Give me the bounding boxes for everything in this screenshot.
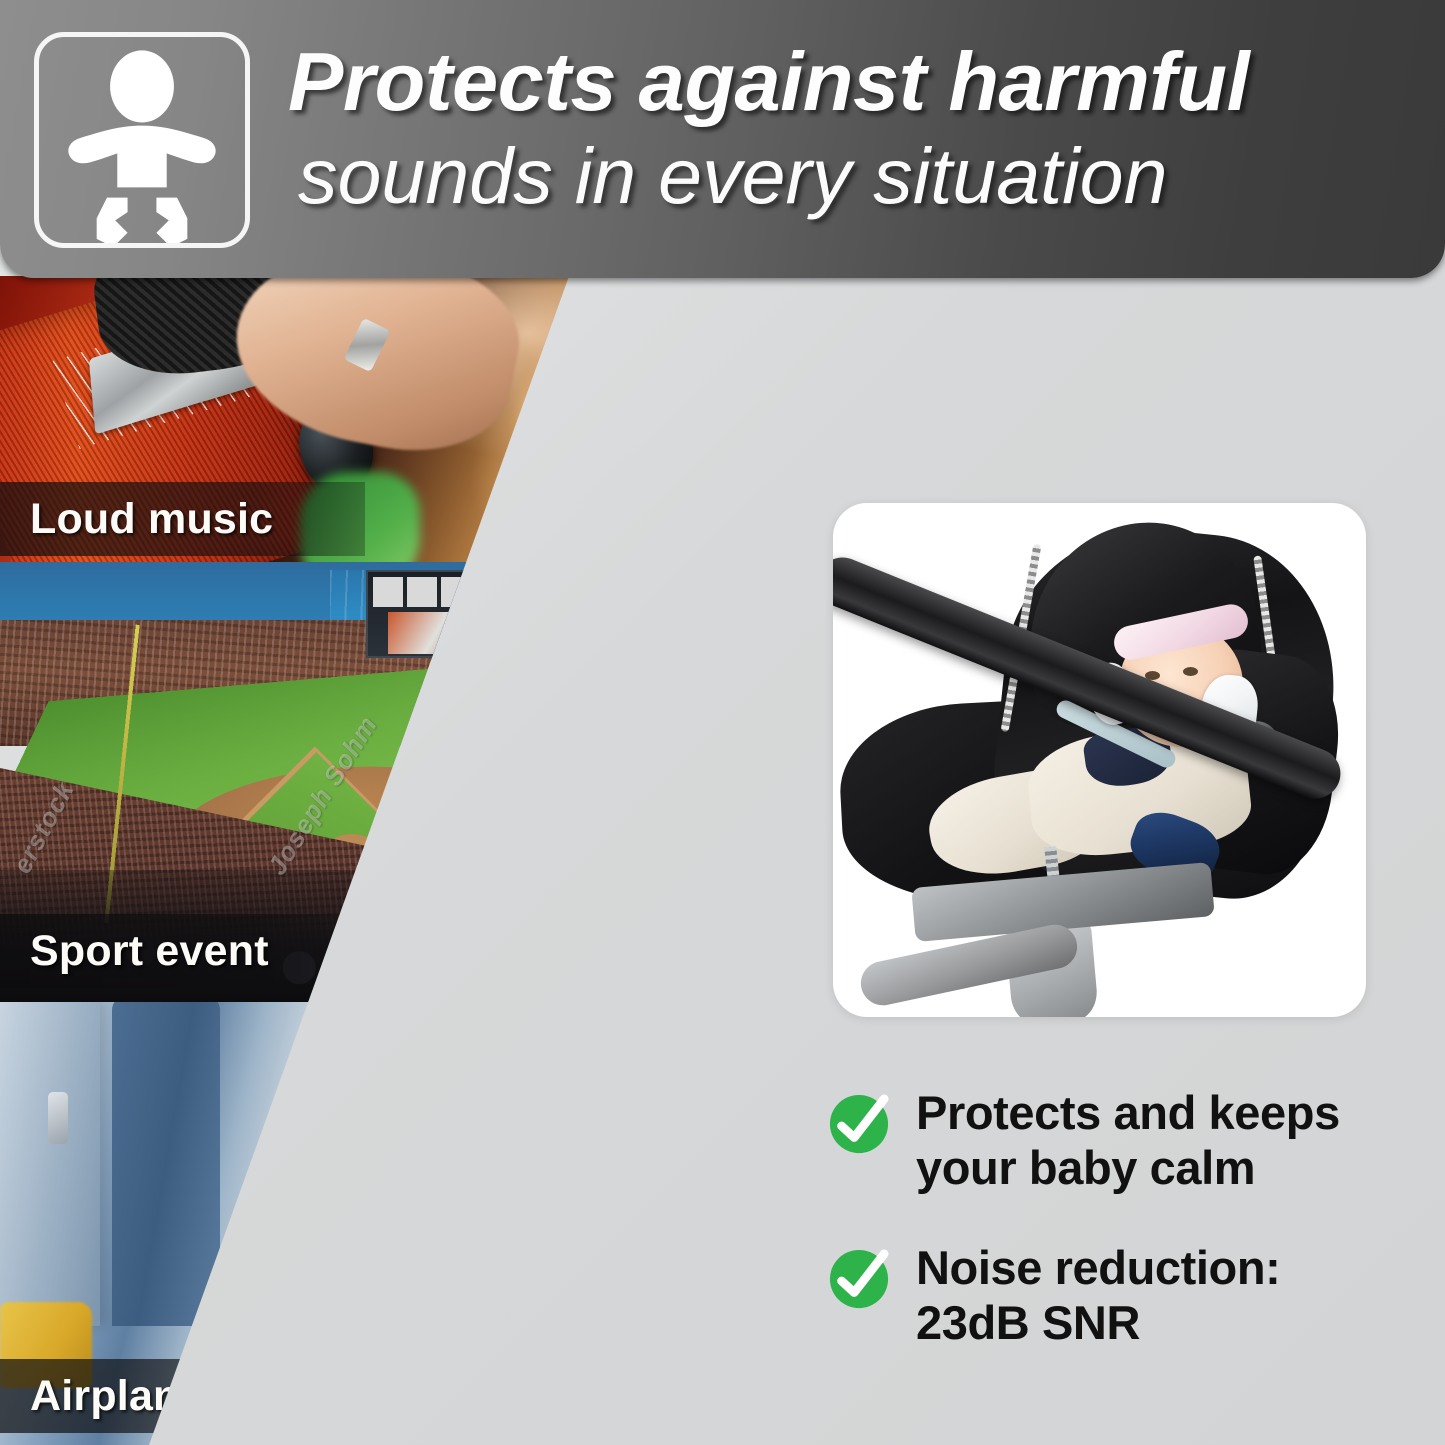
scenario-label-text: Airplane noise [0,1372,329,1421]
scenario-collage: Loud music erstock Josep [0,276,880,1445]
benefit-item: Noise reduction: 23dB SNR [828,1240,1388,1351]
green-check-icon [828,1248,890,1310]
scenario-label-sport-event: Sport event [0,914,365,988]
scenario-label-loud-music: Loud music [0,482,365,556]
benefit-text: Protects and keeps your baby calm [916,1085,1340,1196]
benefit-text: Noise reduction: 23dB SNR [916,1240,1280,1351]
header-title-block: Protects against harmful sounds in every… [288,40,1398,218]
benefit-line2: your baby calm [916,1140,1340,1195]
benefit-line1: Protects and keeps [916,1085,1340,1140]
product-photo-card [833,503,1366,1017]
scenario-label-text: Sport event [0,927,269,976]
page-title-line1: Protects against harmful [288,40,1398,123]
benefit-line1: Noise reduction: [916,1240,1280,1295]
poster-canvas: Protects against harmful sounds in every… [0,0,1445,1445]
scenario-photo-sport-event: erstock Joseph Sohm ersu Sport event [0,562,880,1002]
baby-pictogram-icon [34,32,250,248]
benefit-item: Protects and keeps your baby calm [828,1085,1388,1196]
header-banner: Protects against harmful sounds in every… [0,0,1445,278]
stock-watermark: ersu [683,562,741,628]
scenario-photo-loud-music: Loud music [0,276,880,562]
green-check-icon [828,1093,890,1155]
scenario-label-airplane-noise: Airplane noise [0,1359,380,1433]
scenario-label-text: Loud music [0,495,273,544]
benefits-list: Protects and keeps your baby calm Noise … [828,1085,1388,1395]
scenario-photo-airplane-noise: Airplane noise [0,1002,880,1445]
page-title-line2: sounds in every situation [288,133,1398,218]
benefit-line2: 23dB SNR [916,1295,1280,1350]
